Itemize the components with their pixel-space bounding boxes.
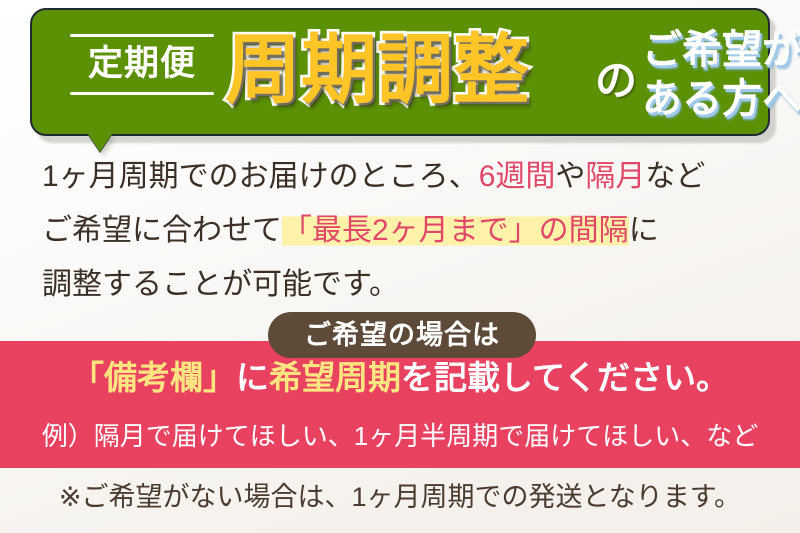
instruction-yellow-2: 希望周期 xyxy=(269,359,401,396)
badge-rule-bottom-icon xyxy=(70,92,214,95)
header-audience-line-2: ある方へ xyxy=(642,75,800,124)
header-audience-text: ご希望が ある方へ xyxy=(642,26,800,124)
instruction-white-2: を記載してください。 xyxy=(401,359,729,396)
header-banner: 定期便 周期調整 の ご希望が ある方へ xyxy=(30,8,770,136)
subscription-badge: 定期便 xyxy=(66,34,218,95)
body-line-2-emphasis: 「最長2ヶ月まで」の間隔 xyxy=(282,214,629,247)
body-line-1: 1ヶ月周期でのお届けのところ、6週間や隔月など xyxy=(42,150,772,204)
instruction-yellow-1: 「備考欄」 xyxy=(71,359,236,396)
instruction-white-1: に xyxy=(236,359,269,396)
instruction-headline: 「備考欄」に希望周期を記載してください。 xyxy=(0,357,800,398)
body-line-2-part-1: ご希望に合わせて xyxy=(42,214,282,247)
body-line-3: 調整することが可能です。 xyxy=(42,258,772,312)
request-case-pill: ご希望の場合は xyxy=(268,312,536,358)
body-line-2-part-2: に xyxy=(629,214,659,247)
request-case-pill-label: ご希望の場合は xyxy=(304,322,500,349)
body-line-1-highlight-1: 6週間 xyxy=(479,160,556,193)
body-line-1-part-2: や xyxy=(555,160,585,193)
footer-note: ※ご希望がない場合は、1ヶ月周期での発送となります。 xyxy=(0,481,800,513)
header-main-title: 周期調整 xyxy=(225,22,529,121)
body-line-1-highlight-2: 隔月 xyxy=(585,160,645,193)
header-audience-line-1: ご希望が xyxy=(642,26,800,75)
body-line-1-part-1: 1ヶ月周期でのお届けのところ、 xyxy=(42,160,479,193)
subscription-cycle-adjustment-banner: 定期便 周期調整 の ご希望が ある方へ 1ヶ月周期でのお届けのところ、6週間や… xyxy=(0,0,800,533)
body-line-1-part-3: など xyxy=(645,160,705,193)
header-connector-particle: の xyxy=(595,60,637,102)
instruction-example: 例）隔月で届けてほしい、1ヶ月半周期で届けてほしい、など xyxy=(0,420,800,453)
badge-rule-top-icon xyxy=(70,34,214,37)
body-paragraph: 1ヶ月周期でのお届けのところ、6週間や隔月など ご希望に合わせて「最長2ヶ月まで… xyxy=(42,150,772,312)
subscription-badge-label: 定期便 xyxy=(66,46,218,83)
body-line-2: ご希望に合わせて「最長2ヶ月まで」の間隔に xyxy=(42,204,772,258)
